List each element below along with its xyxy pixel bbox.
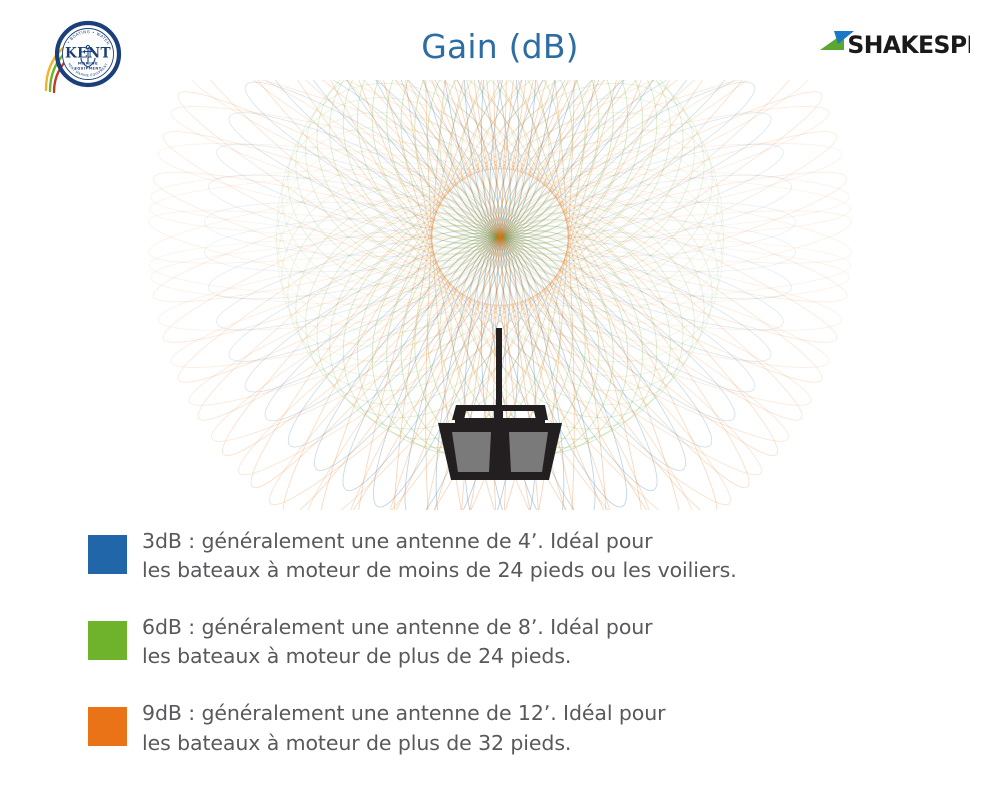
legend-label-6db: 6dB : généralement une antenne de 8ʼ. Id… <box>142 613 653 671</box>
legend-label-9db: 9dB : généralement une antenne de 12ʼ. I… <box>142 699 665 757</box>
antenna-mast-icon <box>496 328 502 418</box>
legend-swatch-6db <box>88 621 127 660</box>
legend-swatch-9db <box>88 707 127 746</box>
boat-hull-panel-right <box>509 432 548 472</box>
kent-logo-equipment-text: EQUIPMENT <box>74 67 101 71</box>
boat-mast-base <box>494 405 503 480</box>
boat-hull-panel-left <box>452 432 491 472</box>
antenna-radiation-pattern <box>0 80 1000 510</box>
shakespeare-wordmark: SHAKESPEARE <box>847 31 970 59</box>
legend-item-6db: 6dB : généralement une antenne de 8ʼ. Id… <box>88 613 948 671</box>
shakespeare-logo: SHAKESPEARE <box>818 27 970 61</box>
legend-item-3db: 3dB : généralement une antenne de 4ʼ. Id… <box>88 527 948 585</box>
legend-swatch-3db <box>88 535 127 574</box>
legend-label-3db: 3dB : généralement une antenne de 4ʼ. Id… <box>142 527 737 585</box>
legend: 3dB : généralement une antenne de 4ʼ. Id… <box>88 527 948 786</box>
legend-item-9db: 9dB : généralement une antenne de 12ʼ. I… <box>88 699 948 757</box>
boat-with-vhf-antenna <box>438 328 562 480</box>
boat-deck-line <box>455 418 545 425</box>
